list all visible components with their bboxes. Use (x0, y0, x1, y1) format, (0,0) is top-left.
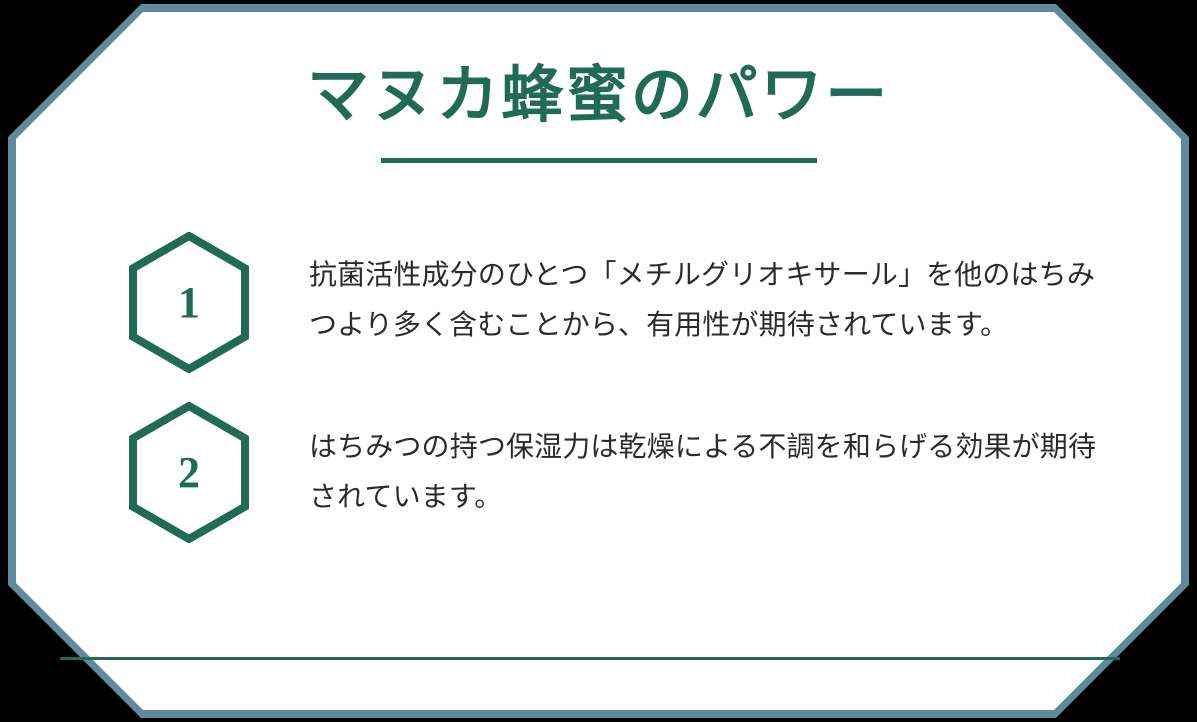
hexagon-badge-2: 2 (127, 402, 251, 543)
hexagon-badge-number: 2 (127, 402, 251, 543)
list-item-text: はちみつの持つ保湿力は乾燥による不調を和らげる効果が期待されています。 (309, 398, 1197, 522)
page-title: マヌカ蜂蜜のパワー (0, 62, 1197, 131)
list-item-text: 抗菌活性成分のひとつ「メチルグリオキサール」を他のはちみつより多く含むことから、… (309, 228, 1197, 350)
benefits-list: 1 抗菌活性成分のひとつ「メチルグリオキサール」を他のはちみつより多く含むことか… (0, 228, 1197, 546)
screenshot-root: マヌカ蜂蜜のパワー 1 抗菌活性成分のひとつ「メチルグリオキサール」を他のはちみ… (0, 0, 1197, 722)
title-underline-rule (381, 158, 817, 163)
hexagon-badge-1: 1 (127, 232, 251, 373)
list-divider (60, 657, 1120, 660)
page-title-block: マヌカ蜂蜜のパワー (0, 62, 1197, 163)
list-item: 1 抗菌活性成分のひとつ「メチルグリオキサール」を他のはちみつより多く含むことか… (0, 228, 1197, 376)
list-item: 2 はちみつの持つ保湿力は乾燥による不調を和らげる効果が期待されています。 (0, 376, 1197, 546)
hexagon-badge-number: 1 (127, 232, 251, 373)
